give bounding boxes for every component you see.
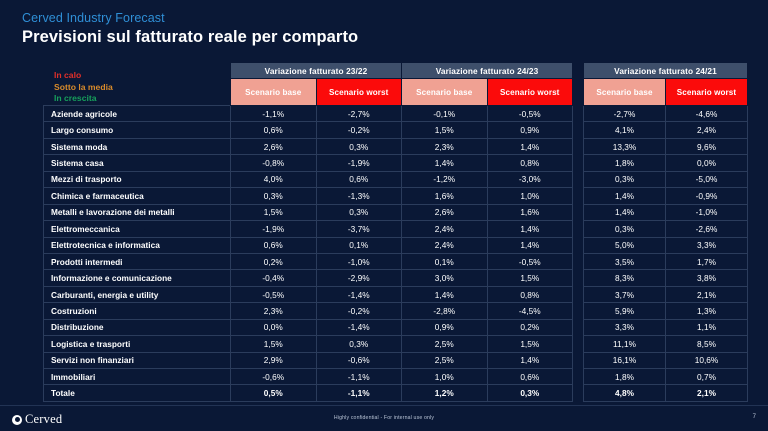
table-row: 0,3%-5,0% (584, 171, 748, 187)
cell-value-colored: 13,3% (584, 138, 666, 154)
cell-value: 1,5% (231, 204, 317, 220)
cell-value: 0,2% (487, 319, 573, 335)
table-row: Elettrotecnica e informatica0,6%0,1%2,4%… (44, 237, 573, 253)
cell-value: -3,7% (316, 221, 402, 237)
cell-value-colored: -5,0% (666, 171, 748, 187)
table-row: 16,1%10,6% (584, 352, 748, 368)
row-label: Servizi non finanziari (44, 352, 231, 368)
cell-value: -2,7% (316, 106, 402, 122)
cell-value-colored: 3,7% (584, 286, 666, 302)
table-row: Totale0,5%-1,1%1,2%0,3% (44, 385, 573, 401)
row-label: Largo consumo (44, 122, 231, 138)
cell-value-colored: 2,1% (666, 385, 748, 401)
cell-value: -0,5% (231, 286, 317, 302)
cell-value: -3,0% (487, 171, 573, 187)
cell-value: 1,6% (487, 204, 573, 220)
table-body-side: -2,7%-4,6%4,1%2,4%13,3%9,6%1,8%0,0%0,3%-… (584, 106, 748, 402)
table-row: Immobiliari-0,6%-1,1%1,0%0,6% (44, 369, 573, 385)
cell-value: 1,4% (402, 155, 488, 171)
cell-value: 0,3% (316, 336, 402, 352)
row-label: Carburanti, energia e utility (44, 286, 231, 302)
cell-value-colored: 0,0% (666, 155, 748, 171)
cell-value: 1,4% (402, 286, 488, 302)
cell-value: 2,9% (231, 352, 317, 368)
table-row: Sistema moda2,6%0,3%2,3%1,4% (44, 138, 573, 154)
cell-value-colored: 16,1% (584, 352, 666, 368)
row-label: Aziende agricole (44, 106, 231, 122)
cell-value: 0,9% (487, 122, 573, 138)
table-row: 13,3%9,6% (584, 138, 748, 154)
table-row: Logistica e trasporti1,5%0,3%2,5%1,5% (44, 336, 573, 352)
cell-value: 3,0% (402, 270, 488, 286)
cell-value: 1,4% (487, 221, 573, 237)
cell-value: -0,1% (402, 106, 488, 122)
group-header-24-23: Variazione fatturato 24/23 (402, 63, 573, 79)
cell-value: 0,6% (231, 122, 317, 138)
cell-value: 0,1% (316, 237, 402, 253)
group-header-24-21: Variazione fatturato 24/21 (584, 63, 748, 79)
cell-value-colored: 5,9% (584, 303, 666, 319)
cell-value: -1,2% (402, 171, 488, 187)
cell-value: 0,8% (487, 286, 573, 302)
scenario-header-worst-24-21: Scenario worst (666, 79, 748, 106)
cell-value-colored: 1,4% (584, 188, 666, 204)
cell-value-colored: 2,1% (666, 286, 748, 302)
cell-value-colored: 1,3% (666, 303, 748, 319)
table-row: -2,7%-4,6% (584, 106, 748, 122)
table-row: Informazione e comunicazione-0,4%-2,9%3,… (44, 270, 573, 286)
table-body-main: Aziende agricole-1,1%-2,7%-0,1%-0,5%Larg… (44, 106, 573, 402)
cell-value: -0,6% (316, 352, 402, 368)
row-label: Distribuzione (44, 319, 231, 335)
table-row: Largo consumo0,6%-0,2%1,5%0,9% (44, 122, 573, 138)
cell-value: 1,4% (487, 138, 573, 154)
cell-value: 1,5% (231, 336, 317, 352)
cell-value-colored: 10,6% (666, 352, 748, 368)
group-header-row-side: Variazione fatturato 24/21 (584, 63, 748, 79)
row-label: Chimica e farmaceutica (44, 188, 231, 204)
cell-value: 0,2% (231, 253, 317, 269)
row-label: Costruzioni (44, 303, 231, 319)
cell-value: 0,0% (231, 319, 317, 335)
cell-value: 0,6% (316, 171, 402, 187)
cell-value: -1,4% (316, 319, 402, 335)
row-label: Sistema casa (44, 155, 231, 171)
cell-value: -0,5% (487, 253, 573, 269)
table-head-side: Variazione fatturato 24/21 Scenario base… (584, 63, 748, 106)
cell-value: -0,2% (316, 122, 402, 138)
cell-value: -0,5% (487, 106, 573, 122)
table-row: Servizi non finanziari2,9%-0,6%2,5%1,4% (44, 352, 573, 368)
cell-value-colored: -2,7% (584, 106, 666, 122)
row-label: Prodotti intermedi (44, 253, 231, 269)
cell-value-colored: 4,1% (584, 122, 666, 138)
cell-value: 2,5% (402, 336, 488, 352)
cell-value-colored: -4,6% (666, 106, 748, 122)
row-label: Elettromeccanica (44, 221, 231, 237)
row-label: Immobiliari (44, 369, 231, 385)
table-row: 3,7%2,1% (584, 286, 748, 302)
cell-value: 4,0% (231, 171, 317, 187)
table-row: Carburanti, energia e utility-0,5%-1,4%1… (44, 286, 573, 302)
cell-value: -0,6% (231, 369, 317, 385)
group-header-row: Variazione fatturato 23/22 Variazione fa… (44, 63, 573, 79)
cell-value: 0,3% (316, 138, 402, 154)
scenario-header-worst-23-22: Scenario worst (316, 79, 402, 106)
cell-value: 2,6% (402, 204, 488, 220)
cell-value-colored: 0,3% (584, 171, 666, 187)
scenario-header-row: Scenario base Scenario worst Scenario ba… (44, 79, 573, 106)
table-row: Aziende agricole-1,1%-2,7%-0,1%-0,5% (44, 106, 573, 122)
cell-value: 0,6% (231, 237, 317, 253)
cell-value: -1,1% (316, 385, 402, 401)
cell-value-colored: 1,8% (584, 369, 666, 385)
cell-value-colored: -0,9% (666, 188, 748, 204)
cell-value-colored: 3,3% (666, 237, 748, 253)
cell-value: -0,4% (231, 270, 317, 286)
scenario-header-worst-24-23: Scenario worst (487, 79, 573, 106)
table-row: Sistema casa-0,8%-1,9%1,4%0,8% (44, 155, 573, 171)
cell-value: -2,9% (316, 270, 402, 286)
cell-value: -1,1% (316, 369, 402, 385)
table-row: 1,8%0,0% (584, 155, 748, 171)
table-row: 3,3%1,1% (584, 319, 748, 335)
cell-value-colored: 1,1% (666, 319, 748, 335)
table-row: Costruzioni2,3%-0,2%-2,8%-4,5% (44, 303, 573, 319)
page-title: Previsioni sul fatturato reale per compa… (22, 28, 358, 47)
table-row: 4,1%2,4% (584, 122, 748, 138)
cell-value-colored: 11,1% (584, 336, 666, 352)
row-label: Elettrotecnica e informatica (44, 237, 231, 253)
table-row: 5,0%3,3% (584, 237, 748, 253)
scenario-header-spacer (44, 79, 231, 106)
row-label: Mezzi di trasporto (44, 171, 231, 187)
table-row: Mezzi di trasporto4,0%0,6%-1,2%-3,0% (44, 171, 573, 187)
cell-value-colored: 1,8% (584, 155, 666, 171)
cell-value-colored: 3,3% (584, 319, 666, 335)
table-row: Metalli e lavorazione dei metalli1,5%0,3… (44, 204, 573, 220)
cell-value-colored: 0,3% (584, 221, 666, 237)
scenario-header-row-side: Scenario base Scenario worst (584, 79, 748, 106)
cell-value: 1,2% (402, 385, 488, 401)
cell-value: -1,9% (316, 155, 402, 171)
cell-value: 2,5% (402, 352, 488, 368)
cell-value: 0,1% (402, 253, 488, 269)
table-row: 1,4%-1,0% (584, 204, 748, 220)
page-number: 7 (753, 414, 756, 420)
cell-value-colored: 4,8% (584, 385, 666, 401)
confidentiality-notice: Highly confidential - For internal use o… (0, 415, 768, 421)
row-label: Sistema moda (44, 138, 231, 154)
cell-value: 0,3% (487, 385, 573, 401)
cell-value-colored: -1,0% (666, 204, 748, 220)
slide-eyebrow: Cerved Industry Forecast (22, 11, 165, 25)
cell-value: 0,6% (487, 369, 573, 385)
cell-value: 2,4% (402, 237, 488, 253)
cell-value: 0,9% (402, 319, 488, 335)
table-row: 1,8%0,7% (584, 369, 748, 385)
cell-value-colored: 1,7% (666, 253, 748, 269)
cell-value: -1,4% (316, 286, 402, 302)
cell-value: 1,4% (487, 352, 573, 368)
cell-value: -2,8% (402, 303, 488, 319)
cell-value: 0,5% (231, 385, 317, 401)
table-row: 4,8%2,1% (584, 385, 748, 401)
scenario-header-base-23-22: Scenario base (231, 79, 317, 106)
scenario-header-base-24-21: Scenario base (584, 79, 666, 106)
cell-value: -1,1% (231, 106, 317, 122)
table-row: Elettromeccanica-1,9%-3,7%2,4%1,4% (44, 221, 573, 237)
cell-value-colored: 3,5% (584, 253, 666, 269)
cell-value-colored: 9,6% (666, 138, 748, 154)
group-header-spacer (44, 63, 231, 79)
cell-value: -1,9% (231, 221, 317, 237)
cell-value: 1,5% (487, 270, 573, 286)
cell-value: -1,0% (316, 253, 402, 269)
cell-value: 0,8% (487, 155, 573, 171)
table-row: 5,9%1,3% (584, 303, 748, 319)
table-row: Distribuzione0,0%-1,4%0,9%0,2% (44, 319, 573, 335)
cell-value: 2,3% (402, 138, 488, 154)
cell-value-colored: 8,5% (666, 336, 748, 352)
group-header-23-22: Variazione fatturato 23/22 (231, 63, 402, 79)
cell-value: 1,0% (402, 369, 488, 385)
row-label: Totale (44, 385, 231, 401)
cell-value: 2,4% (402, 221, 488, 237)
cell-value: -0,2% (316, 303, 402, 319)
cell-value: 1,0% (487, 188, 573, 204)
cell-value-colored: 8,3% (584, 270, 666, 286)
cell-value-colored: 5,0% (584, 237, 666, 253)
cell-value: -0,8% (231, 155, 317, 171)
forecast-table-side: Variazione fatturato 24/21 Scenario base… (583, 62, 748, 402)
cell-value: -1,3% (316, 188, 402, 204)
row-label: Metalli e lavorazione dei metalli (44, 204, 231, 220)
cell-value: -4,5% (487, 303, 573, 319)
table-row: 1,4%-0,9% (584, 188, 748, 204)
footer: Cerved Highly confidential - For interna… (0, 405, 768, 431)
row-label: Logistica e trasporti (44, 336, 231, 352)
cell-value: 1,4% (487, 237, 573, 253)
table-head-main: Variazione fatturato 23/22 Variazione fa… (44, 63, 573, 106)
cell-value: 0,3% (316, 204, 402, 220)
cell-value-colored: 0,7% (666, 369, 748, 385)
row-label: Informazione e comunicazione (44, 270, 231, 286)
cell-value: 1,6% (402, 188, 488, 204)
table-row: Chimica e farmaceutica0,3%-1,3%1,6%1,0% (44, 188, 573, 204)
cell-value: 1,5% (402, 122, 488, 138)
table-row: 11,1%8,5% (584, 336, 748, 352)
table-row: 3,5%1,7% (584, 253, 748, 269)
cell-value: 2,6% (231, 138, 317, 154)
table-row: 0,3%-2,6% (584, 221, 748, 237)
cell-value-colored: 3,8% (666, 270, 748, 286)
slide: Cerved Industry Forecast Previsioni sul … (0, 0, 768, 431)
forecast-table-main: Variazione fatturato 23/22 Variazione fa… (43, 62, 573, 402)
scenario-header-base-24-23: Scenario base (402, 79, 488, 106)
cell-value-colored: 1,4% (584, 204, 666, 220)
table-row: 8,3%3,8% (584, 270, 748, 286)
table-row: Prodotti intermedi0,2%-1,0%0,1%-0,5% (44, 253, 573, 269)
cell-value-colored: -2,6% (666, 221, 748, 237)
cell-value: 2,3% (231, 303, 317, 319)
cell-value-colored: 2,4% (666, 122, 748, 138)
cell-value: 1,5% (487, 336, 573, 352)
cell-value: 0,3% (231, 188, 317, 204)
